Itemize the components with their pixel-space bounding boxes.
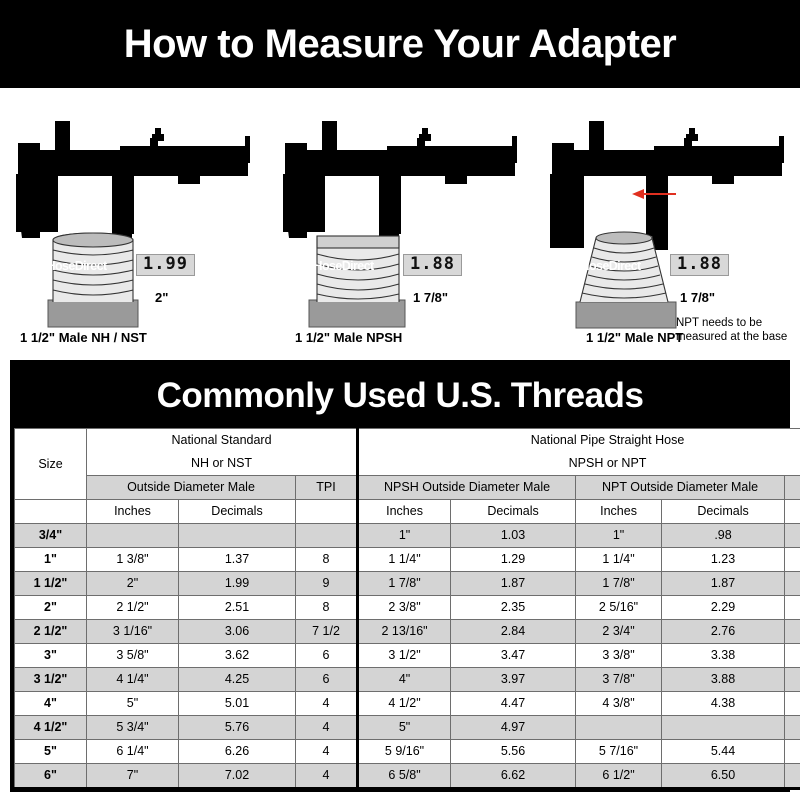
col-group-npsh: National Pipe Straight Hose NPSH or NPT [358, 429, 800, 476]
cell-nh_in: 2" [87, 572, 179, 596]
table-unit-header-row: Inches Decimals Inches Decimals Inches D… [15, 500, 800, 524]
cell-npt_in [576, 716, 662, 740]
cell-size: 2" [15, 596, 87, 620]
diagram-caption: 1 1/2" Male NPSH [267, 330, 533, 345]
cell-size: 3/4" [15, 524, 87, 548]
table-row: 3"3 5/8"3.6263 1/2"3.473 3/8"3.388 [15, 644, 800, 668]
col-header-npt-decimals: Decimals [662, 500, 785, 524]
cell-nh_tpi: 9 [296, 572, 358, 596]
watermark-text: FireHoseDirect [293, 259, 374, 273]
cell-npt_dec: 2.76 [662, 620, 785, 644]
cell-npsh_dec: 1.29 [451, 548, 576, 572]
table-row: 6"7"7.0246 5/8"6.626 1/2"6.508 [15, 764, 800, 789]
table-title: Commonly Used U.S. Threads [14, 364, 786, 428]
cell-npt_in: 4 3/8" [576, 692, 662, 716]
cell-npt_dec: 2.29 [662, 596, 785, 620]
cell-nh_dec: 3.06 [179, 620, 296, 644]
table-row: 3/4"1"1.031".9814 [15, 524, 800, 548]
cell-npsh_in: 1 1/4" [358, 548, 451, 572]
cell-npsh_in: 2 3/8" [358, 596, 451, 620]
cell-npsh_dec: 4.47 [451, 692, 576, 716]
brand-watermark-strip: FireHoseDirect [12, 257, 107, 274]
cell-size: 3 1/2" [15, 668, 87, 692]
caliper-lcd-display: 1.88 [403, 254, 462, 276]
cell-npsh_in: 2 13/16" [358, 620, 451, 644]
cell-nh_dec: 6.26 [179, 740, 296, 764]
cell-npt_tpi: 11 1/2 [785, 596, 800, 620]
cell-npt_dec: 5.44 [662, 740, 785, 764]
cell-npt_tpi: 8 [785, 740, 800, 764]
cell-npsh_dec: 3.47 [451, 644, 576, 668]
caliper-reading-label: 2" [155, 290, 168, 305]
cell-npt_tpi: 11 1/2 [785, 572, 800, 596]
table-row: 1 1/2"2"1.9991 7/8"1.871 7/8"1.8711 1/2 [15, 572, 800, 596]
cell-npsh_dec: 1.03 [451, 524, 576, 548]
table-row: 3 1/2"4 1/4"4.2564"3.973 7/8"3.888 [15, 668, 800, 692]
threads-table: Size National Standard NH or NST Nationa… [14, 428, 800, 790]
cell-nh_in: 5" [87, 692, 179, 716]
page-title: How to Measure Your Adapter [0, 0, 800, 88]
cell-npsh_in: 1 7/8" [358, 572, 451, 596]
threads-table-body: 3/4"1"1.031".98141"1 3/8"1.3781 1/4"1.29… [15, 524, 800, 789]
cell-nh_tpi: 4 [296, 764, 358, 789]
table-sub-header-row: Outside Diameter Male TPI NPSH Outside D… [15, 476, 800, 500]
cell-npt_dec [662, 716, 785, 740]
cell-size: 1 1/2" [15, 572, 87, 596]
cell-size: 6" [15, 764, 87, 789]
cell-npt_tpi: 8 [785, 716, 800, 740]
watermark-text: FireHoseDirect [560, 259, 641, 273]
flame-logo-icon [279, 260, 290, 271]
col-header-nh-tpi-blank [296, 500, 358, 524]
cell-npt_tpi: 8 [785, 764, 800, 789]
cell-npt_tpi: 8 [785, 644, 800, 668]
cell-npt_in: 6 1/2" [576, 764, 662, 789]
cell-nh_tpi: 4 [296, 716, 358, 740]
brand-watermark-strip: FireHoseDirect [546, 257, 641, 274]
cell-npsh_dec: 2.84 [451, 620, 576, 644]
cell-npsh_in: 1" [358, 524, 451, 548]
cell-nh_dec: 2.51 [179, 596, 296, 620]
cell-npt_tpi: 14 [785, 524, 800, 548]
table-row: 5"6 1/4"6.2645 9/16"5.565 7/16"5.448 [15, 740, 800, 764]
infographic-page: How to Measure Your Adapter FireHoseDire… [0, 0, 800, 800]
cell-nh_in: 3 1/16" [87, 620, 179, 644]
cell-npsh_dec: 2.35 [451, 596, 576, 620]
cell-nh_tpi: 8 [296, 548, 358, 572]
cell-npt_in: 1" [576, 524, 662, 548]
cell-nh_tpi: 4 [296, 692, 358, 716]
cell-nh_dec: 5.01 [179, 692, 296, 716]
cell-npt_dec: 1.23 [662, 548, 785, 572]
cell-nh_dec [179, 524, 296, 548]
cell-npt_dec: 1.87 [662, 572, 785, 596]
cell-npt_dec: 4.38 [662, 692, 785, 716]
cell-npt_in: 3 3/8" [576, 644, 662, 668]
cell-npt_in: 2 5/16" [576, 596, 662, 620]
col-header-size-blank [15, 500, 87, 524]
npsh-group-line1: National Pipe Straight Hose [359, 429, 800, 452]
cell-nh_in [87, 524, 179, 548]
cell-npt_in: 1 1/4" [576, 548, 662, 572]
flame-logo-icon [546, 260, 557, 271]
col-header-npt-od-male: NPT Outside Diameter Male [576, 476, 785, 500]
col-header-tpi-nh: TPI [296, 476, 358, 500]
cell-npsh_dec: 6.62 [451, 764, 576, 789]
cell-size: 5" [15, 740, 87, 764]
cell-size: 3" [15, 644, 87, 668]
cell-size: 2 1/2" [15, 620, 87, 644]
cell-size: 1" [15, 548, 87, 572]
col-header-nh-decimals: Decimals [179, 500, 296, 524]
cell-nh_in: 5 3/4" [87, 716, 179, 740]
table-row: 2 1/2"3 1/16"3.067 1/22 13/16"2.842 3/4"… [15, 620, 800, 644]
col-group-nh: National Standard NH or NST [87, 429, 358, 476]
cell-nh_in: 1 3/8" [87, 548, 179, 572]
caliper-lcd-display: 1.99 [136, 254, 195, 276]
cell-npsh_in: 5" [358, 716, 451, 740]
cell-nh_tpi [296, 524, 358, 548]
watermark-text: FireHoseDirect [26, 259, 107, 273]
caliper-drawing-icon [267, 88, 533, 358]
cell-size: 4" [15, 692, 87, 716]
cell-nh_dec: 7.02 [179, 764, 296, 789]
npsh-group-line2: NPSH or NPT [359, 452, 800, 475]
cell-npt_tpi: 11 1/2 [785, 548, 800, 572]
cell-npt_dec: 3.88 [662, 668, 785, 692]
table-row: 4 1/2"5 3/4"5.7645"4.978 [15, 716, 800, 740]
caliper-diagram-npsh: FireHoseDirect FireHoseDirect 1.88 1 7/8… [267, 88, 533, 358]
col-header-od-male: Outside Diameter Male [87, 476, 296, 500]
cell-npt_in: 5 7/16" [576, 740, 662, 764]
col-header-size: Size [15, 429, 87, 500]
table-row: 2"2 1/2"2.5182 3/8"2.352 5/16"2.2911 1/2 [15, 596, 800, 620]
table-group-header-row: Size National Standard NH or NST Nationa… [15, 429, 800, 476]
caliper-reading-label: 1 7/8" [680, 290, 715, 305]
cell-npt_dec: 3.38 [662, 644, 785, 668]
cell-npsh_in: 6 5/8" [358, 764, 451, 789]
table-row: 1"1 3/8"1.3781 1/4"1.291 1/4"1.2311 1/2 [15, 548, 800, 572]
cell-npsh_dec: 5.56 [451, 740, 576, 764]
cell-npt_in: 3 7/8" [576, 668, 662, 692]
cell-nh_tpi: 7 1/2 [296, 620, 358, 644]
caliper-diagram-nh-nst: FireHoseDirect FireHoseDirect 1.99 2" 1 … [0, 88, 266, 358]
header-banner: How to Measure Your Adapter [0, 0, 800, 88]
table-row: 4"5"5.0144 1/2"4.474 3/8"4.388 [15, 692, 800, 716]
col-header-npsh-od-male: NPSH Outside Diameter Male [358, 476, 576, 500]
cell-npsh_dec: 4.97 [451, 716, 576, 740]
col-header-npt-tpi-blank [785, 500, 800, 524]
cell-nh_dec: 5.76 [179, 716, 296, 740]
nh-group-line2: NH or NST [87, 452, 356, 475]
caliper-drawing-icon [0, 88, 266, 358]
npt-base-note: NPT needs to be measured at the base [676, 316, 800, 344]
cell-nh_dec: 1.37 [179, 548, 296, 572]
cell-nh_in: 6 1/4" [87, 740, 179, 764]
col-header-tpi-npt: TPI [785, 476, 800, 500]
brand-watermark-strip: FireHoseDirect [279, 257, 374, 274]
cell-nh_dec: 3.62 [179, 644, 296, 668]
cell-npsh_in: 5 9/16" [358, 740, 451, 764]
cell-nh_dec: 1.99 [179, 572, 296, 596]
cell-nh_in: 7" [87, 764, 179, 789]
cell-npt_tpi: 8 [785, 668, 800, 692]
cell-nh_tpi: 8 [296, 596, 358, 620]
cell-nh_tpi: 6 [296, 644, 358, 668]
cell-npt_in: 2 3/4" [576, 620, 662, 644]
col-header-nh-inches: Inches [87, 500, 179, 524]
cell-npsh_in: 3 1/2" [358, 644, 451, 668]
nh-group-line1: National Standard [87, 429, 356, 452]
cell-npt_dec: .98 [662, 524, 785, 548]
cell-npsh_dec: 3.97 [451, 668, 576, 692]
flame-logo-icon [12, 260, 23, 271]
cell-npt_tpi: 8 [785, 620, 800, 644]
cell-size: 4 1/2" [15, 716, 87, 740]
caliper-reading-label: 1 7/8" [413, 290, 448, 305]
diagram-caption: 1 1/2" Male NH / NST [0, 330, 266, 345]
col-header-npt-inches: Inches [576, 500, 662, 524]
threads-table-block: Commonly Used U.S. Threads Size National… [10, 360, 790, 792]
cell-nh_tpi: 4 [296, 740, 358, 764]
cell-npt_in: 1 7/8" [576, 572, 662, 596]
col-header-npsh-inches: Inches [358, 500, 451, 524]
cell-nh_in: 3 5/8" [87, 644, 179, 668]
cell-nh_in: 2 1/2" [87, 596, 179, 620]
cell-nh_tpi: 6 [296, 668, 358, 692]
caliper-lcd-display: 1.88 [670, 254, 729, 276]
cell-npsh_in: 4 1/2" [358, 692, 451, 716]
col-header-npsh-decimals: Decimals [451, 500, 576, 524]
cell-npsh_dec: 1.87 [451, 572, 576, 596]
cell-nh_in: 4 1/4" [87, 668, 179, 692]
cell-npt_dec: 6.50 [662, 764, 785, 789]
caliper-diagram-band: FireHoseDirect [0, 88, 800, 358]
cell-nh_dec: 4.25 [179, 668, 296, 692]
cell-npsh_in: 4" [358, 668, 451, 692]
cell-npt_tpi: 8 [785, 692, 800, 716]
